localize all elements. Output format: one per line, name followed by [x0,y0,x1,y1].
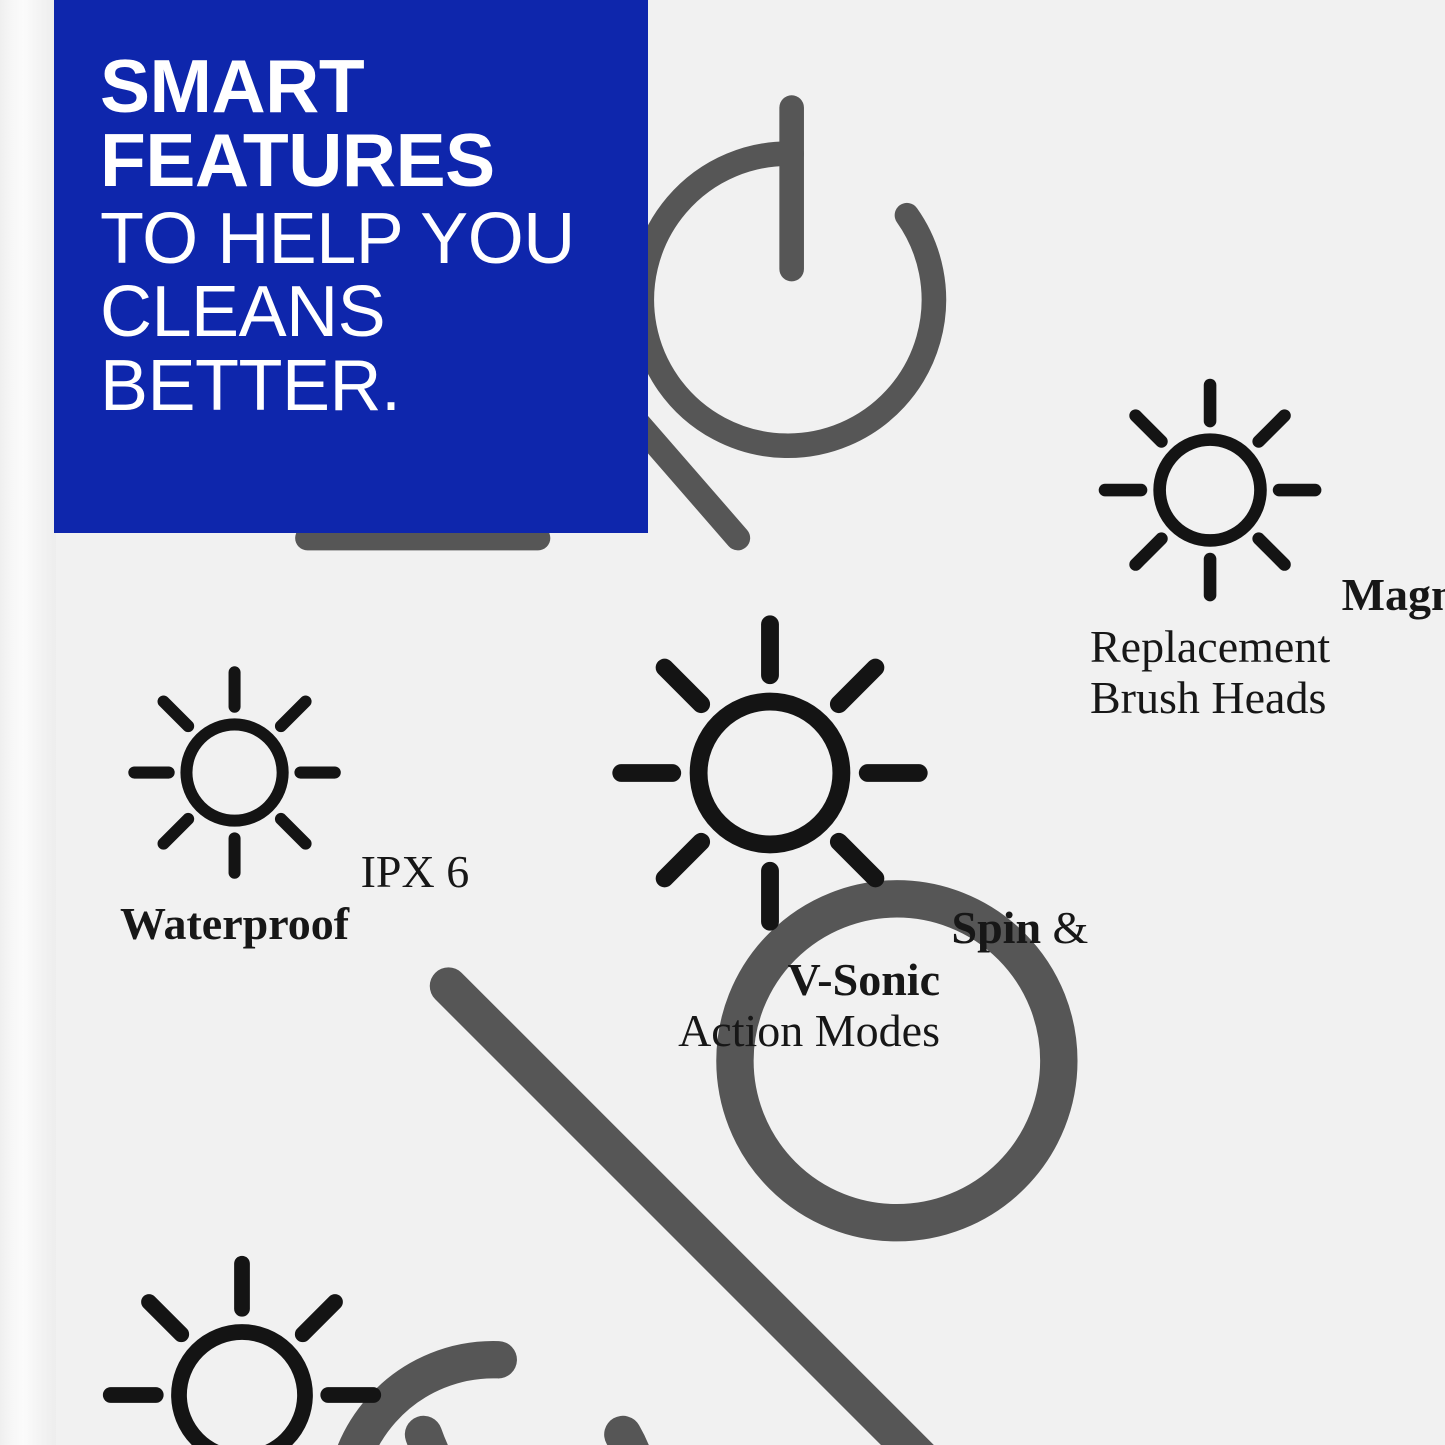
feature-action-modes-line-3: Action Modes [600,1005,940,1057]
feature-spin-bold: Spin [952,902,1042,953]
headline-light-line-1: TO HELP YOU [100,203,618,276]
feature-rechargeable-line-1: Re- [92,1245,392,1445]
feature-magnetic-brush-heads: Magnetic Replacement Brush Heads [1090,370,1330,724]
headline-bold-line-1: SMART [100,44,364,128]
feature-action-modes-line-1: Spin & [600,603,940,954]
sun-icon [120,846,361,897]
feature-magnetic-line-2: Replacement [1090,621,1330,673]
feature-waterproof-line-1: IPX 6 [120,658,349,898]
feature-vsonic-bold: V-Sonic [788,954,941,1005]
feature-waterproof-line-2: Waterproof [120,898,349,950]
product-feature-graphic: SMART FEATURES TO HELP YOU CLEANS BETTER… [0,0,1445,1445]
feature-rechargeable: Re- chargeable [92,1245,392,1445]
headline-light-line-3: BETTER. [100,350,618,423]
feature-action-modes: Spin & V-Sonic Action Modes [600,603,940,1057]
feature-waterproof-rating: IPX 6 [361,846,470,897]
headline-bold: SMART FEATURES [100,50,618,197]
sun-icon [600,902,952,953]
headline-light: TO HELP YOU CLEANS BETTER. [100,203,618,423]
left-edge-sheen [0,0,56,1445]
feature-magnetic-line-3: Brush Heads [1090,672,1330,724]
headline-light-line-2: CLEANS [100,276,618,349]
feature-action-modes-line-2: V-Sonic [600,954,940,1006]
feature-waterproof: IPX 6 Waterproof [120,658,349,949]
feature-spin-ampersand: & [1041,902,1088,953]
sun-icon [1090,569,1342,620]
feature-magnetic-bold: Magnetic [1342,569,1445,620]
headline-bold-line-2: FEATURES [100,118,495,202]
feature-waterproof-bold: Waterproof [120,898,349,949]
headline-panel: SMART FEATURES TO HELP YOU CLEANS BETTER… [54,0,648,533]
feature-magnetic-line-1: Magnetic [1090,370,1330,621]
